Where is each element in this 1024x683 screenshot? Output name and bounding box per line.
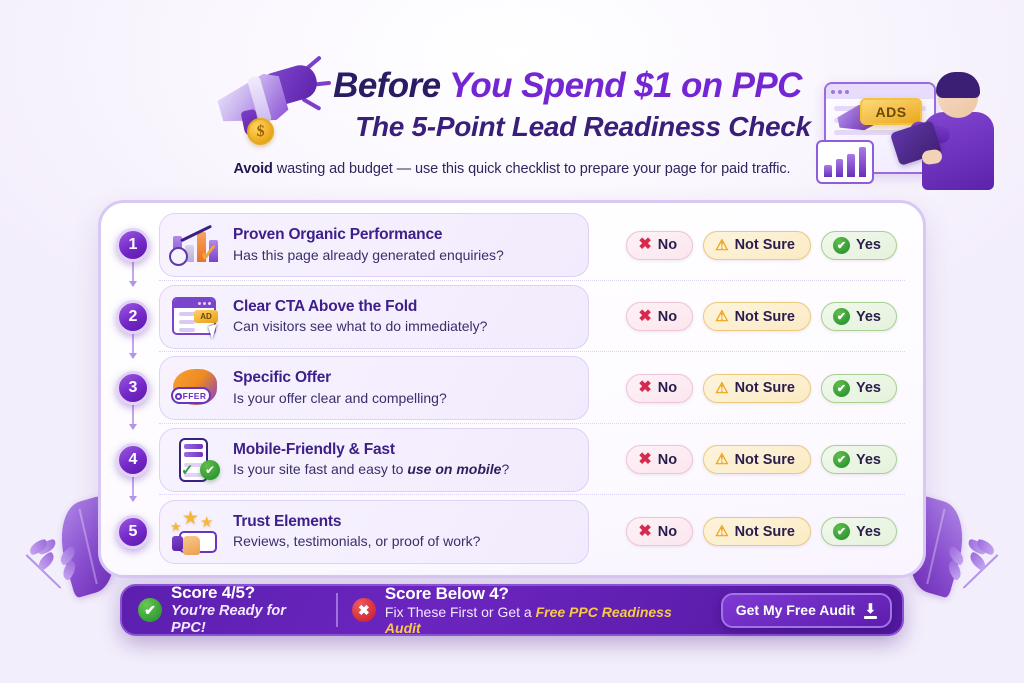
title-part-2: You Spend $1 on PPC	[449, 66, 802, 105]
cursor-icon	[208, 323, 221, 338]
answer-group: ✖No ⚠Not Sure ✔Yes	[626, 374, 905, 403]
stars-thumbsup-icon: ★★★	[169, 509, 221, 555]
check-icon: ✔	[833, 380, 850, 397]
step-number-badge: 1	[116, 228, 150, 262]
answer-no-button[interactable]: ✖No	[626, 231, 693, 260]
answer-no-button[interactable]: ✖No	[626, 517, 693, 546]
answer-yes-button[interactable]: ✔Yes	[821, 302, 897, 331]
sprig-icon	[28, 525, 101, 598]
step-connector	[132, 475, 134, 501]
answer-label: No	[658, 452, 677, 468]
check-icon: ✔	[833, 308, 850, 325]
coin-icon: $	[247, 118, 274, 145]
answer-label: Not Sure	[735, 237, 795, 253]
answer-label: Yes	[856, 237, 881, 253]
title-part-1: Before	[333, 66, 449, 105]
footer-divider	[336, 593, 337, 627]
step-number-badge: 4	[116, 443, 150, 477]
answer-group: ✖No ⚠Not Sure ✔Yes	[626, 302, 905, 331]
score-good-block: ✔ Score 4/5? You're Ready for PPC!	[138, 583, 322, 636]
checklist-item-4[interactable]: ✓ ✔ Mobile-Friendly & Fast Is your site …	[159, 428, 589, 492]
x-icon: ✖	[638, 309, 651, 325]
answer-label: No	[658, 380, 677, 396]
answer-label: Yes	[856, 452, 881, 468]
answer-label: No	[658, 309, 677, 325]
answer-label: No	[658, 237, 677, 253]
answer-yes-button[interactable]: ✔Yes	[821, 374, 897, 403]
download-icon: ⬇	[864, 602, 877, 619]
check-icon: ✔	[833, 237, 850, 254]
answer-no-button[interactable]: ✖No	[626, 302, 693, 331]
answer-group: ✖No ⚠Not Sure ✔Yes	[626, 231, 905, 260]
score-footer-bar: ✔ Score 4/5? You're Ready for PPC! ✖ Sco…	[120, 584, 904, 636]
step-connector	[132, 260, 134, 286]
answer-label: No	[658, 524, 677, 540]
x-icon: ✖	[638, 237, 651, 253]
checklist-row[interactable]: 1 ✓ Proven Organic Performance Has this …	[159, 211, 905, 281]
score-good-sub: You're Ready for PPC!	[171, 603, 322, 637]
answer-yes-button[interactable]: ✔Yes	[821, 231, 897, 260]
answer-group: ✖No ⚠Not Sure ✔Yes	[626, 445, 905, 474]
checklist-item-2[interactable]: AD Clear CTA Above the Fold Can visitors…	[159, 285, 589, 349]
check-badge-icon: ✔	[200, 460, 220, 480]
tagline: Avoid wasting ad budget — use this quick…	[0, 161, 1024, 177]
answer-label: Not Sure	[735, 309, 795, 325]
answer-no-button[interactable]: ✖No	[626, 374, 693, 403]
step-connector	[132, 403, 134, 429]
warning-icon: ⚠	[715, 452, 728, 467]
page-subtitle: The 5-Point Lead Readiness Check	[333, 110, 811, 144]
checklist-row[interactable]: 2 AD Clear CTA Above the Fold Can visito…	[159, 282, 905, 352]
check-icon: ✔	[833, 523, 850, 540]
checklist-row[interactable]: 4 ✓ ✔ Mobile-Friendly & Fast Is your sit…	[159, 425, 905, 495]
answer-yes-button[interactable]: ✔Yes	[821, 517, 897, 546]
growth-chart-icon: ✓	[169, 222, 221, 268]
answer-not-sure-button[interactable]: ⚠Not Sure	[703, 302, 811, 331]
checklist-item-1[interactable]: ✓ Proven Organic Performance Has this pa…	[159, 213, 589, 277]
question-emphasis: use on mobile	[407, 461, 501, 477]
tagline-rest: wasting ad budget — use this quick check…	[273, 161, 791, 177]
score-bad-sub-pre: Fix These First or Get a	[385, 604, 536, 620]
page-title: Before You Spend $1 on PPC	[333, 67, 811, 105]
sprig-icon	[924, 525, 997, 598]
header: $ Before You Spend $1 on PPC The 5-Point…	[0, 0, 1024, 177]
answer-not-sure-button[interactable]: ⚠Not Sure	[703, 445, 811, 474]
checklist-item-5[interactable]: ★★★ Trust Elements Reviews, testimonials…	[159, 500, 589, 564]
warning-icon: ⚠	[715, 524, 728, 539]
check-icon: ✔	[833, 451, 850, 468]
checklist-card: 1 ✓ Proven Organic Performance Has this …	[98, 200, 926, 578]
step-number-badge: 3	[116, 371, 150, 405]
x-icon: ✖	[638, 452, 651, 468]
x-circle-icon: ✖	[352, 598, 376, 622]
warning-icon: ⚠	[715, 238, 728, 253]
warning-icon: ⚠	[715, 381, 728, 396]
item-title: Clear CTA Above the Fold	[233, 298, 487, 317]
answer-group: ✖No ⚠Not Sure ✔Yes	[626, 517, 905, 546]
ad-label: AD	[194, 310, 218, 323]
answer-label: Not Sure	[735, 452, 795, 468]
x-icon: ✖	[638, 380, 651, 396]
item-question: Is your offer clear and compelling?	[233, 390, 447, 407]
answer-label: Not Sure	[735, 524, 795, 540]
question-post: ?	[501, 461, 509, 477]
answer-not-sure-button[interactable]: ⚠Not Sure	[703, 231, 811, 260]
x-icon: ✖	[638, 524, 651, 540]
answer-label: Yes	[856, 309, 881, 325]
answer-label: Yes	[856, 524, 881, 540]
checklist-row[interactable]: 3 OFFER Specific Offer Is your offer cle…	[159, 354, 905, 424]
item-question: Has this page already generated enquirie…	[233, 247, 504, 264]
answer-label: Yes	[856, 380, 881, 396]
step-number-badge: 5	[116, 515, 150, 549]
item-question: Reviews, testimonials, or proof of work?	[233, 533, 480, 550]
item-title: Mobile-Friendly & Fast	[233, 441, 509, 460]
tagline-bold: Avoid	[234, 161, 273, 177]
answer-label: Not Sure	[735, 380, 795, 396]
get-free-audit-button[interactable]: Get My Free Audit ⬇	[721, 593, 892, 628]
cta-label: Get My Free Audit	[736, 602, 855, 618]
answer-no-button[interactable]: ✖No	[626, 445, 693, 474]
answer-not-sure-button[interactable]: ⚠Not Sure	[703, 374, 811, 403]
step-number-badge: 2	[116, 300, 150, 334]
checklist-item-3[interactable]: OFFER Specific Offer Is your offer clear…	[159, 356, 589, 420]
item-question: Can visitors see what to do immediately?	[233, 318, 487, 335]
score-bad-sub: Fix These First or Get a Free PPC Readin…	[385, 604, 707, 636]
browser-ad-cursor-icon: AD	[169, 294, 221, 340]
check-circle-icon: ✔	[138, 598, 162, 622]
item-question: Is your site fast and easy to use on mob…	[233, 461, 509, 478]
offer-tag-icon: OFFER	[169, 365, 221, 411]
score-good-headline: Score 4/5?	[171, 583, 322, 603]
item-title: Trust Elements	[233, 513, 480, 532]
step-connector	[132, 332, 134, 358]
item-title: Specific Offer	[233, 369, 447, 388]
question-pre: Is your site fast and easy to	[233, 461, 407, 477]
score-bad-block: ✖ Score Below 4? Fix These First or Get …	[352, 584, 707, 636]
answer-not-sure-button[interactable]: ⚠Not Sure	[703, 517, 811, 546]
warning-icon: ⚠	[715, 309, 728, 324]
checklist-row[interactable]: 5 ★★★ Trust Elements Reviews, testimonia…	[159, 497, 905, 567]
mobile-check-icon: ✓ ✔	[169, 437, 221, 483]
answer-yes-button[interactable]: ✔Yes	[821, 445, 897, 474]
megaphone-icon: $	[213, 56, 323, 148]
item-title: Proven Organic Performance	[233, 226, 504, 245]
score-bad-headline: Score Below 4?	[385, 584, 707, 604]
